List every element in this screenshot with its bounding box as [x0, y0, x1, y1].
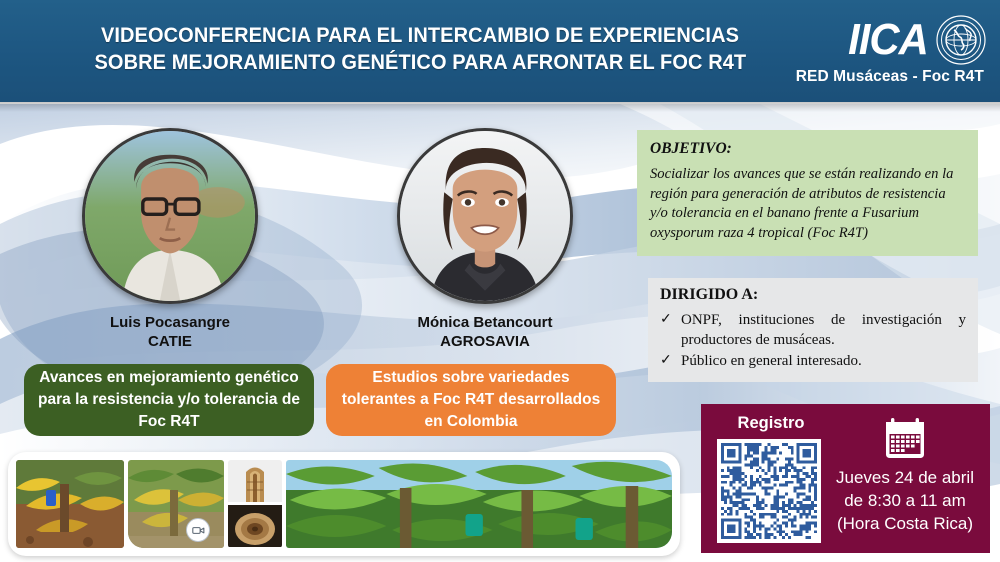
calendar-icon [882, 416, 928, 462]
audience-item-text: ONPF, instituciones de investigación y p… [681, 310, 966, 350]
qr-code[interactable] [717, 439, 821, 543]
registration-date-line-2: de 8:30 a 11 am [829, 489, 981, 512]
list-item: ✓ ONPF, instituciones de investigación y… [660, 310, 966, 350]
title-line-2: SOBRE MEJORAMIENTO GENÉTICO PARA AFRONTA… [95, 49, 746, 76]
photo-banana-plantation [286, 460, 672, 548]
list-item: ✓ Público en general interesado. [660, 351, 966, 371]
iica-wordmark: IICA [848, 18, 928, 62]
registration-date-line-3: (Hora Costa Rica) [829, 512, 981, 535]
audience-item-text: Público en general interesado. [681, 351, 966, 371]
iica-seal-icon [936, 15, 986, 65]
speaker-name: Mónica Betancourt [345, 313, 625, 332]
objective-box: OBJETIVO: Socializar los avances que se … [637, 130, 978, 256]
title-line-1: VIDEOCONFERENCIA PARA EL INTERCAMBIO DE … [95, 22, 746, 49]
registration-label: Registro [717, 413, 825, 433]
check-icon: ✓ [660, 351, 673, 371]
registration-card: Registro [701, 404, 990, 553]
speaker-card-2: Mónica Betancourt AGROSAVIA [345, 128, 625, 351]
audience-title: DIRIGIDO A: [660, 286, 966, 304]
objective-text: Socializar los avances que se están real… [650, 165, 965, 243]
avatar-monica-betancourt [397, 128, 573, 304]
video-camera-icon[interactable] [186, 518, 210, 542]
header-shadow [0, 102, 1000, 112]
topic-pill-1-text: Avances en mejoramiento genético para la… [38, 367, 300, 433]
registration-qr-block: Registro [717, 413, 825, 543]
photo-banana-yellowing [16, 460, 124, 548]
photo-pseudostem-cross-section [228, 505, 282, 547]
audience-box: DIRIGIDO A: ✓ ONPF, instituciones de inv… [648, 278, 978, 382]
speaker-org: AGROSAVIA [345, 332, 625, 351]
photo-pseudostem-group [228, 460, 282, 548]
speaker-name: Luis Pocasangre [30, 313, 310, 332]
photo-banana-field-infected [128, 460, 224, 548]
check-icon: ✓ [660, 310, 673, 350]
page-title: VIDEOCONFERENCIA PARA EL INTERCAMBIO DE … [70, 22, 770, 76]
poster-canvas: VIDEOCONFERENCIA PARA EL INTERCAMBIO DE … [0, 0, 1000, 562]
topic-pill-1: Avances en mejoramiento genético para la… [24, 364, 314, 436]
photo-strip [8, 452, 680, 556]
topic-pill-2: Estudios sobre variedades tolerantes a F… [326, 364, 616, 436]
speaker-card-1: Luis Pocasangre CATIE [30, 128, 310, 351]
registration-date-block: Jueves 24 de abril de 8:30 a 11 am (Hora… [829, 414, 981, 535]
avatar-luis-pocasangre [82, 128, 258, 304]
logo-subtitle: RED Musáceas - Foc R4T [771, 68, 984, 86]
registration-date-line-1: Jueves 24 de abril [829, 466, 981, 489]
topic-pill-2-text: Estudios sobre variedades tolerantes a F… [340, 367, 602, 433]
iica-logo: IICA RED Musáceas - Foc R4T [771, 14, 986, 92]
speaker-org: CATIE [30, 332, 310, 351]
objective-title: OBJETIVO: [650, 140, 965, 158]
photo-pseudostem-vertical [228, 460, 282, 502]
